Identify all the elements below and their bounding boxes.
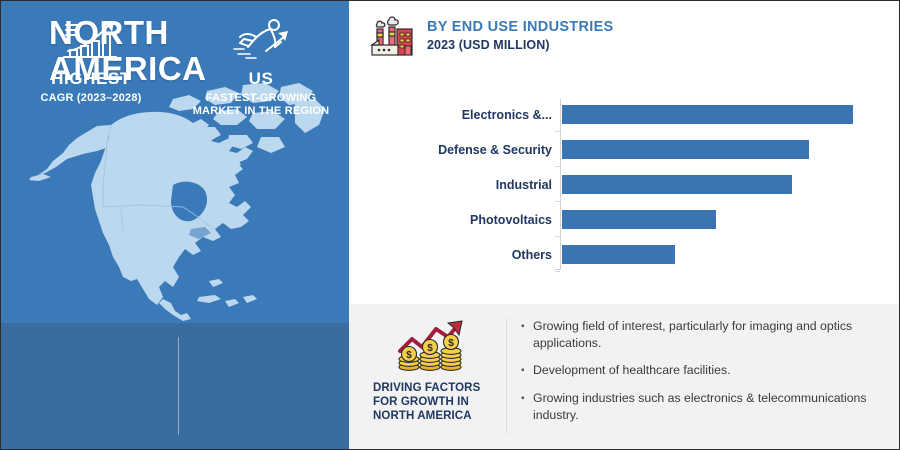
svg-text:$: $ — [427, 343, 433, 354]
bar-chart-row: Photovoltaics — [349, 202, 899, 237]
bar-track — [561, 167, 899, 202]
bullet-marker-icon: ▪ — [521, 390, 533, 407]
axis-tick — [555, 201, 560, 202]
stat-us-label: FASTEST-GROWING MARKET IN THE REGION — [181, 92, 341, 118]
svg-text:$: $ — [448, 338, 454, 349]
stat-highest-value: HIGHEST — [11, 69, 171, 89]
bar-chart-rows: Electronics &...Defense & SecurityIndust… — [349, 97, 899, 272]
bar-chart-row: Electronics &... — [349, 97, 899, 132]
chart-y-axis — [560, 99, 561, 270]
chart-panel: BY END USE INDUSTRIES 2023 (USD MILLION)… — [349, 1, 899, 449]
driving-factors-caption-line2: FOR GROWTH IN — [373, 395, 495, 409]
bar-others — [562, 245, 675, 264]
axis-tick — [555, 131, 560, 132]
axis-tick — [555, 236, 560, 237]
chart-subtitle: 2023 (USD MILLION) — [427, 38, 614, 52]
factors-divider — [506, 318, 507, 434]
bullet-marker-icon: ▪ — [521, 318, 533, 335]
bar-track — [561, 202, 899, 237]
stat-us-label-line1: FASTEST-GROWING — [181, 92, 341, 105]
bar-industrial — [562, 175, 792, 194]
driving-factor-item: ▪Growing field of interest, particularly… — [521, 318, 883, 351]
bar-track — [561, 237, 899, 272]
bar-chart-row: Others — [349, 237, 899, 272]
factory-icon — [369, 15, 415, 61]
driving-factor-item: ▪Development of healthcare facilities. — [521, 362, 883, 379]
axis-tick — [555, 271, 560, 272]
driving-factors-section: $ $ — [349, 304, 899, 449]
bar-photovoltaics — [562, 210, 716, 229]
stats-band — [1, 323, 349, 449]
bar-electronics — [562, 105, 853, 124]
bar-category-label: Electronics &... — [349, 108, 561, 122]
stat-highest-label: CAGR (2023–2028) — [11, 92, 171, 105]
axis-tick — [555, 166, 560, 167]
driving-factors-caption-line1: DRIVING FACTORS — [373, 381, 495, 395]
chart-axis-foot — [555, 269, 561, 270]
stat-highest-cagr: HIGHEST CAGR (2023–2028) — [11, 15, 171, 105]
region-panel: NORTH AMERICA — [1, 1, 349, 449]
driving-factor-item: ▪Growing industries such as electronics … — [521, 390, 883, 423]
chart-header: BY END USE INDUSTRIES 2023 (USD MILLION) — [369, 15, 614, 61]
infographic-frame: NORTH AMERICA — [0, 0, 900, 450]
bar-chart-row: Defense & Security — [349, 132, 899, 167]
coins-growth-arrow-icon: $ $ — [367, 316, 495, 374]
driving-factors-caption-block: $ $ — [367, 316, 495, 423]
driving-factor-text: Development of healthcare facilities. — [533, 362, 731, 379]
bar-defense-security — [562, 140, 809, 159]
driving-factors-list: ▪Growing field of interest, particularly… — [521, 318, 883, 434]
svg-text:$: $ — [406, 350, 412, 361]
bar-category-label: Industrial — [349, 178, 561, 192]
chart-title: BY END USE INDUSTRIES — [427, 19, 614, 35]
bar-track — [561, 97, 899, 132]
stat-us-value: US — [181, 69, 341, 89]
stat-fastest-growing-market: US FASTEST-GROWING MARKET IN THE REGION — [181, 15, 341, 118]
growth-bar-chart-arrow-icon — [11, 15, 171, 61]
bar-chart: Electronics &...Defense & SecurityIndust… — [349, 97, 899, 277]
bar-track — [561, 132, 899, 167]
driving-factors-caption: DRIVING FACTORS FOR GROWTH IN NORTH AMER… — [367, 381, 495, 423]
driving-factors-caption-line3: NORTH AMERICA — [373, 409, 495, 423]
chart-header-text: BY END USE INDUSTRIES 2023 (USD MILLION) — [427, 15, 614, 52]
bar-category-label: Others — [349, 248, 561, 262]
bar-category-label: Defense & Security — [349, 143, 561, 157]
driving-factor-text: Growing field of interest, particularly … — [533, 318, 883, 351]
bullet-marker-icon: ▪ — [521, 362, 533, 379]
bar-chart-row: Industrial — [349, 167, 899, 202]
flying-hero-rocket-icon — [181, 15, 341, 61]
driving-factor-text: Growing industries such as electronics &… — [533, 390, 883, 423]
bar-category-label: Photovoltaics — [349, 213, 561, 227]
stat-us-label-line2: MARKET IN THE REGION — [181, 105, 341, 118]
stats-divider — [178, 337, 179, 435]
